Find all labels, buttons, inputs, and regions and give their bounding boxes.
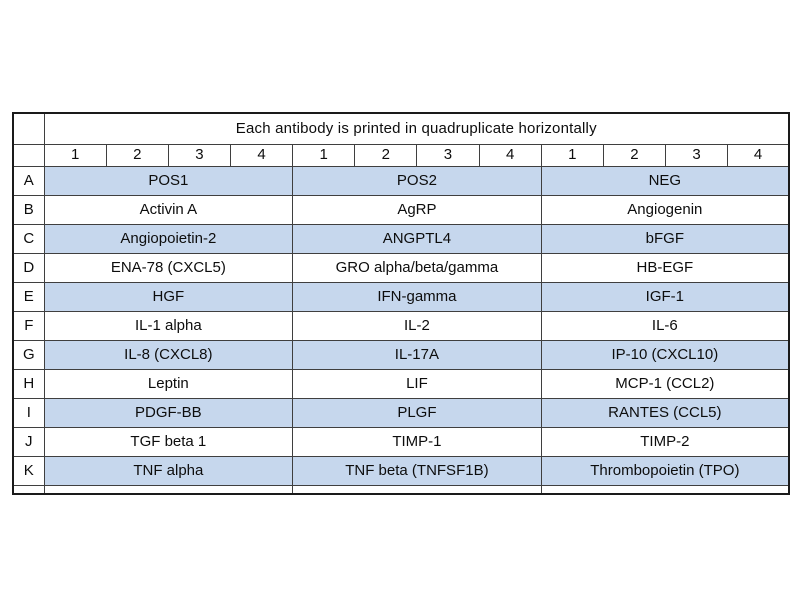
col-header-b3-4: 4	[728, 145, 789, 167]
cell-k-block3: Thrombopoietin (TPO)	[541, 457, 789, 486]
cell-b-block2: AgRP	[293, 196, 542, 225]
cell-a-block1: POS1	[44, 167, 293, 196]
stub-block2	[293, 486, 542, 495]
cell-i-block3: RANTES (CCL5)	[541, 399, 789, 428]
col-header-b2-4: 4	[479, 145, 541, 167]
row-label-k: K	[13, 457, 44, 486]
col-header-b1-2: 2	[106, 145, 168, 167]
col-header-b2-1: 1	[293, 145, 355, 167]
table-title: Each antibody is printed in quadruplicat…	[44, 113, 789, 145]
table-row: D ENA-78 (CXCL5) GRO alpha/beta/gamma HB…	[13, 254, 789, 283]
antibody-array-map: Each antibody is printed in quadruplicat…	[12, 112, 790, 495]
array-layout-table: Each antibody is printed in quadruplicat…	[12, 112, 790, 495]
cell-f-block3: IL-6	[541, 312, 789, 341]
column-number-header-row: 1 2 3 4 1 2 3 4 1 2 3 4	[13, 145, 789, 167]
cell-b-block3: Angiogenin	[541, 196, 789, 225]
cell-k-block1: TNF alpha	[44, 457, 293, 486]
row-label-h: H	[13, 370, 44, 399]
cell-c-block1: Angiopoietin-2	[44, 225, 293, 254]
cell-f-block1: IL-1 alpha	[44, 312, 293, 341]
table-row: C Angiopoietin-2 ANGPTL4 bFGF	[13, 225, 789, 254]
table-row: J TGF beta 1 TIMP-1 TIMP-2	[13, 428, 789, 457]
col-header-b2-3: 3	[417, 145, 479, 167]
cell-a-block3: NEG	[541, 167, 789, 196]
array-table-body: Each antibody is printed in quadruplicat…	[13, 113, 789, 494]
cell-g-block1: IL-8 (CXCL8)	[44, 341, 293, 370]
col-header-b3-1: 1	[541, 145, 603, 167]
table-row: I PDGF-BB PLGF RANTES (CCL5)	[13, 399, 789, 428]
row-label-g: G	[13, 341, 44, 370]
stub-block1	[44, 486, 293, 495]
cell-e-block3: IGF-1	[541, 283, 789, 312]
cell-h-block1: Leptin	[44, 370, 293, 399]
row-label-header	[13, 145, 44, 167]
row-label-a: A	[13, 167, 44, 196]
stub-row-label	[13, 486, 44, 495]
cell-h-block3: MCP-1 (CCL2)	[541, 370, 789, 399]
clipped-row-stub	[13, 486, 789, 495]
row-label-c: C	[13, 225, 44, 254]
col-header-b1-4: 4	[230, 145, 292, 167]
table-row: A POS1 POS2 NEG	[13, 167, 789, 196]
cell-f-block2: IL-2	[293, 312, 542, 341]
cell-j-block3: TIMP-2	[541, 428, 789, 457]
title-row: Each antibody is printed in quadruplicat…	[13, 113, 789, 145]
table-row: H Leptin LIF MCP-1 (CCL2)	[13, 370, 789, 399]
row-label-f: F	[13, 312, 44, 341]
cell-i-block2: PLGF	[293, 399, 542, 428]
cell-i-block1: PDGF-BB	[44, 399, 293, 428]
cell-j-block2: TIMP-1	[293, 428, 542, 457]
cell-d-block2: GRO alpha/beta/gamma	[293, 254, 542, 283]
cell-b-block1: Activin A	[44, 196, 293, 225]
row-label-j: J	[13, 428, 44, 457]
table-row: K TNF alpha TNF beta (TNFSF1B) Thrombopo…	[13, 457, 789, 486]
cell-k-block2: TNF beta (TNFSF1B)	[293, 457, 542, 486]
cell-j-block1: TGF beta 1	[44, 428, 293, 457]
col-header-b1-1: 1	[44, 145, 106, 167]
row-label-i: I	[13, 399, 44, 428]
cell-e-block2: IFN-gamma	[293, 283, 542, 312]
col-header-b2-2: 2	[355, 145, 417, 167]
stub-block3	[541, 486, 789, 495]
cell-c-block3: bFGF	[541, 225, 789, 254]
row-label-b: B	[13, 196, 44, 225]
cell-g-block2: IL-17A	[293, 341, 542, 370]
cell-h-block2: LIF	[293, 370, 542, 399]
cell-c-block2: ANGPTL4	[293, 225, 542, 254]
cell-d-block3: HB-EGF	[541, 254, 789, 283]
table-row: E HGF IFN-gamma IGF-1	[13, 283, 789, 312]
corner-spacer	[13, 113, 44, 145]
row-label-e: E	[13, 283, 44, 312]
row-label-d: D	[13, 254, 44, 283]
col-header-b1-3: 3	[168, 145, 230, 167]
cell-d-block1: ENA-78 (CXCL5)	[44, 254, 293, 283]
col-header-b3-3: 3	[665, 145, 727, 167]
table-row: B Activin A AgRP Angiogenin	[13, 196, 789, 225]
cell-e-block1: HGF	[44, 283, 293, 312]
table-row: F IL-1 alpha IL-2 IL-6	[13, 312, 789, 341]
col-header-b3-2: 2	[603, 145, 665, 167]
table-row: G IL-8 (CXCL8) IL-17A IP-10 (CXCL10)	[13, 341, 789, 370]
cell-a-block2: POS2	[293, 167, 542, 196]
cell-g-block3: IP-10 (CXCL10)	[541, 341, 789, 370]
